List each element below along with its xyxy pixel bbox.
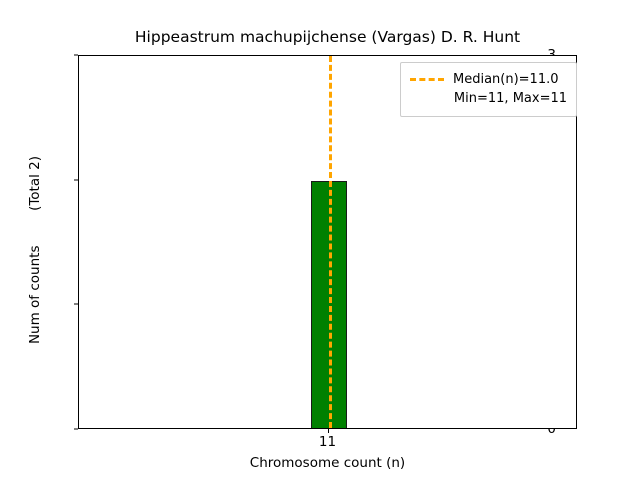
- legend-entry-median-label: Median(n)=11.0: [453, 72, 559, 87]
- y-axis-label-line1: Num of counts: [27, 246, 43, 345]
- x-tick-mark: [328, 429, 329, 433]
- y-axis-label: Num of counts (Total 2): [27, 63, 43, 437]
- x-axis-label: Chromosome count (n): [78, 455, 577, 471]
- legend: Median(n)=11.0 Min=11, Max=11: [400, 62, 577, 117]
- x-tick-label: 11: [298, 434, 358, 450]
- y-axis-label-line2: (Total 2): [27, 156, 43, 211]
- legend-entry-median: Median(n)=11.0: [410, 70, 567, 89]
- legend-entry-minmax: Min=11, Max=11: [410, 89, 567, 108]
- chart-title: Hippeastrum machupijchense (Vargas) D. R…: [78, 28, 577, 46]
- median-line: [329, 56, 332, 428]
- legend-entry-minmax-label: Min=11, Max=11: [454, 91, 567, 106]
- chart-figure: Hippeastrum machupijchense (Vargas) D. R…: [0, 0, 640, 480]
- dashed-line-icon: [410, 78, 444, 81]
